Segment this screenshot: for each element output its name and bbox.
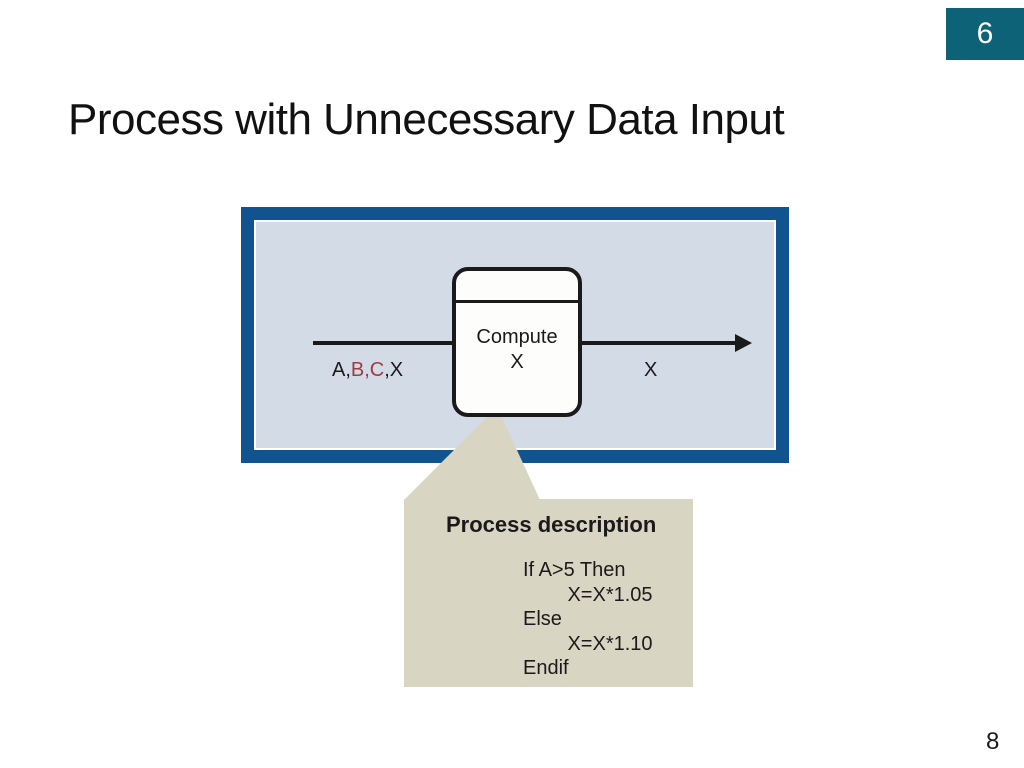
diagram-frame-gap: A,B,C,X Compute X X	[254, 220, 776, 450]
process-box-label-line1: Compute	[456, 325, 578, 350]
callout-title: Process description	[446, 511, 656, 539]
page-number: 8	[986, 728, 999, 756]
input-label-part-plain-2: ,X	[384, 359, 403, 381]
process-box-label-line2: X	[456, 350, 578, 375]
process-box-label: Compute X	[456, 325, 578, 375]
input-label-part-plain-1: A,	[332, 359, 351, 381]
process-box: Compute X	[452, 267, 582, 417]
callout-code-block: If A>5 Then X=X*1.05 Else X=X*1.10 Endif	[523, 558, 653, 681]
output-flow-label: X	[644, 358, 657, 382]
diagram-frame: A,B,C,X Compute X X	[241, 207, 789, 463]
input-arrow-shaft	[313, 341, 460, 345]
output-arrow-shaft	[580, 341, 737, 345]
slide-badge: 6	[946, 8, 1024, 60]
page-title: Process with Unnecessary Data Input	[68, 92, 784, 148]
process-box-divider	[456, 300, 578, 303]
process-description-callout: Process description If A>5 Then X=X*1.05…	[404, 499, 693, 687]
input-flow-label: A,B,C,X	[332, 358, 403, 382]
output-arrow-head	[735, 334, 752, 352]
diagram-canvas: A,B,C,X Compute X X	[256, 222, 774, 448]
input-label-part-highlight: B,C	[351, 359, 384, 381]
output-arrow-icon	[580, 332, 752, 354]
input-arrow-icon	[313, 332, 475, 354]
